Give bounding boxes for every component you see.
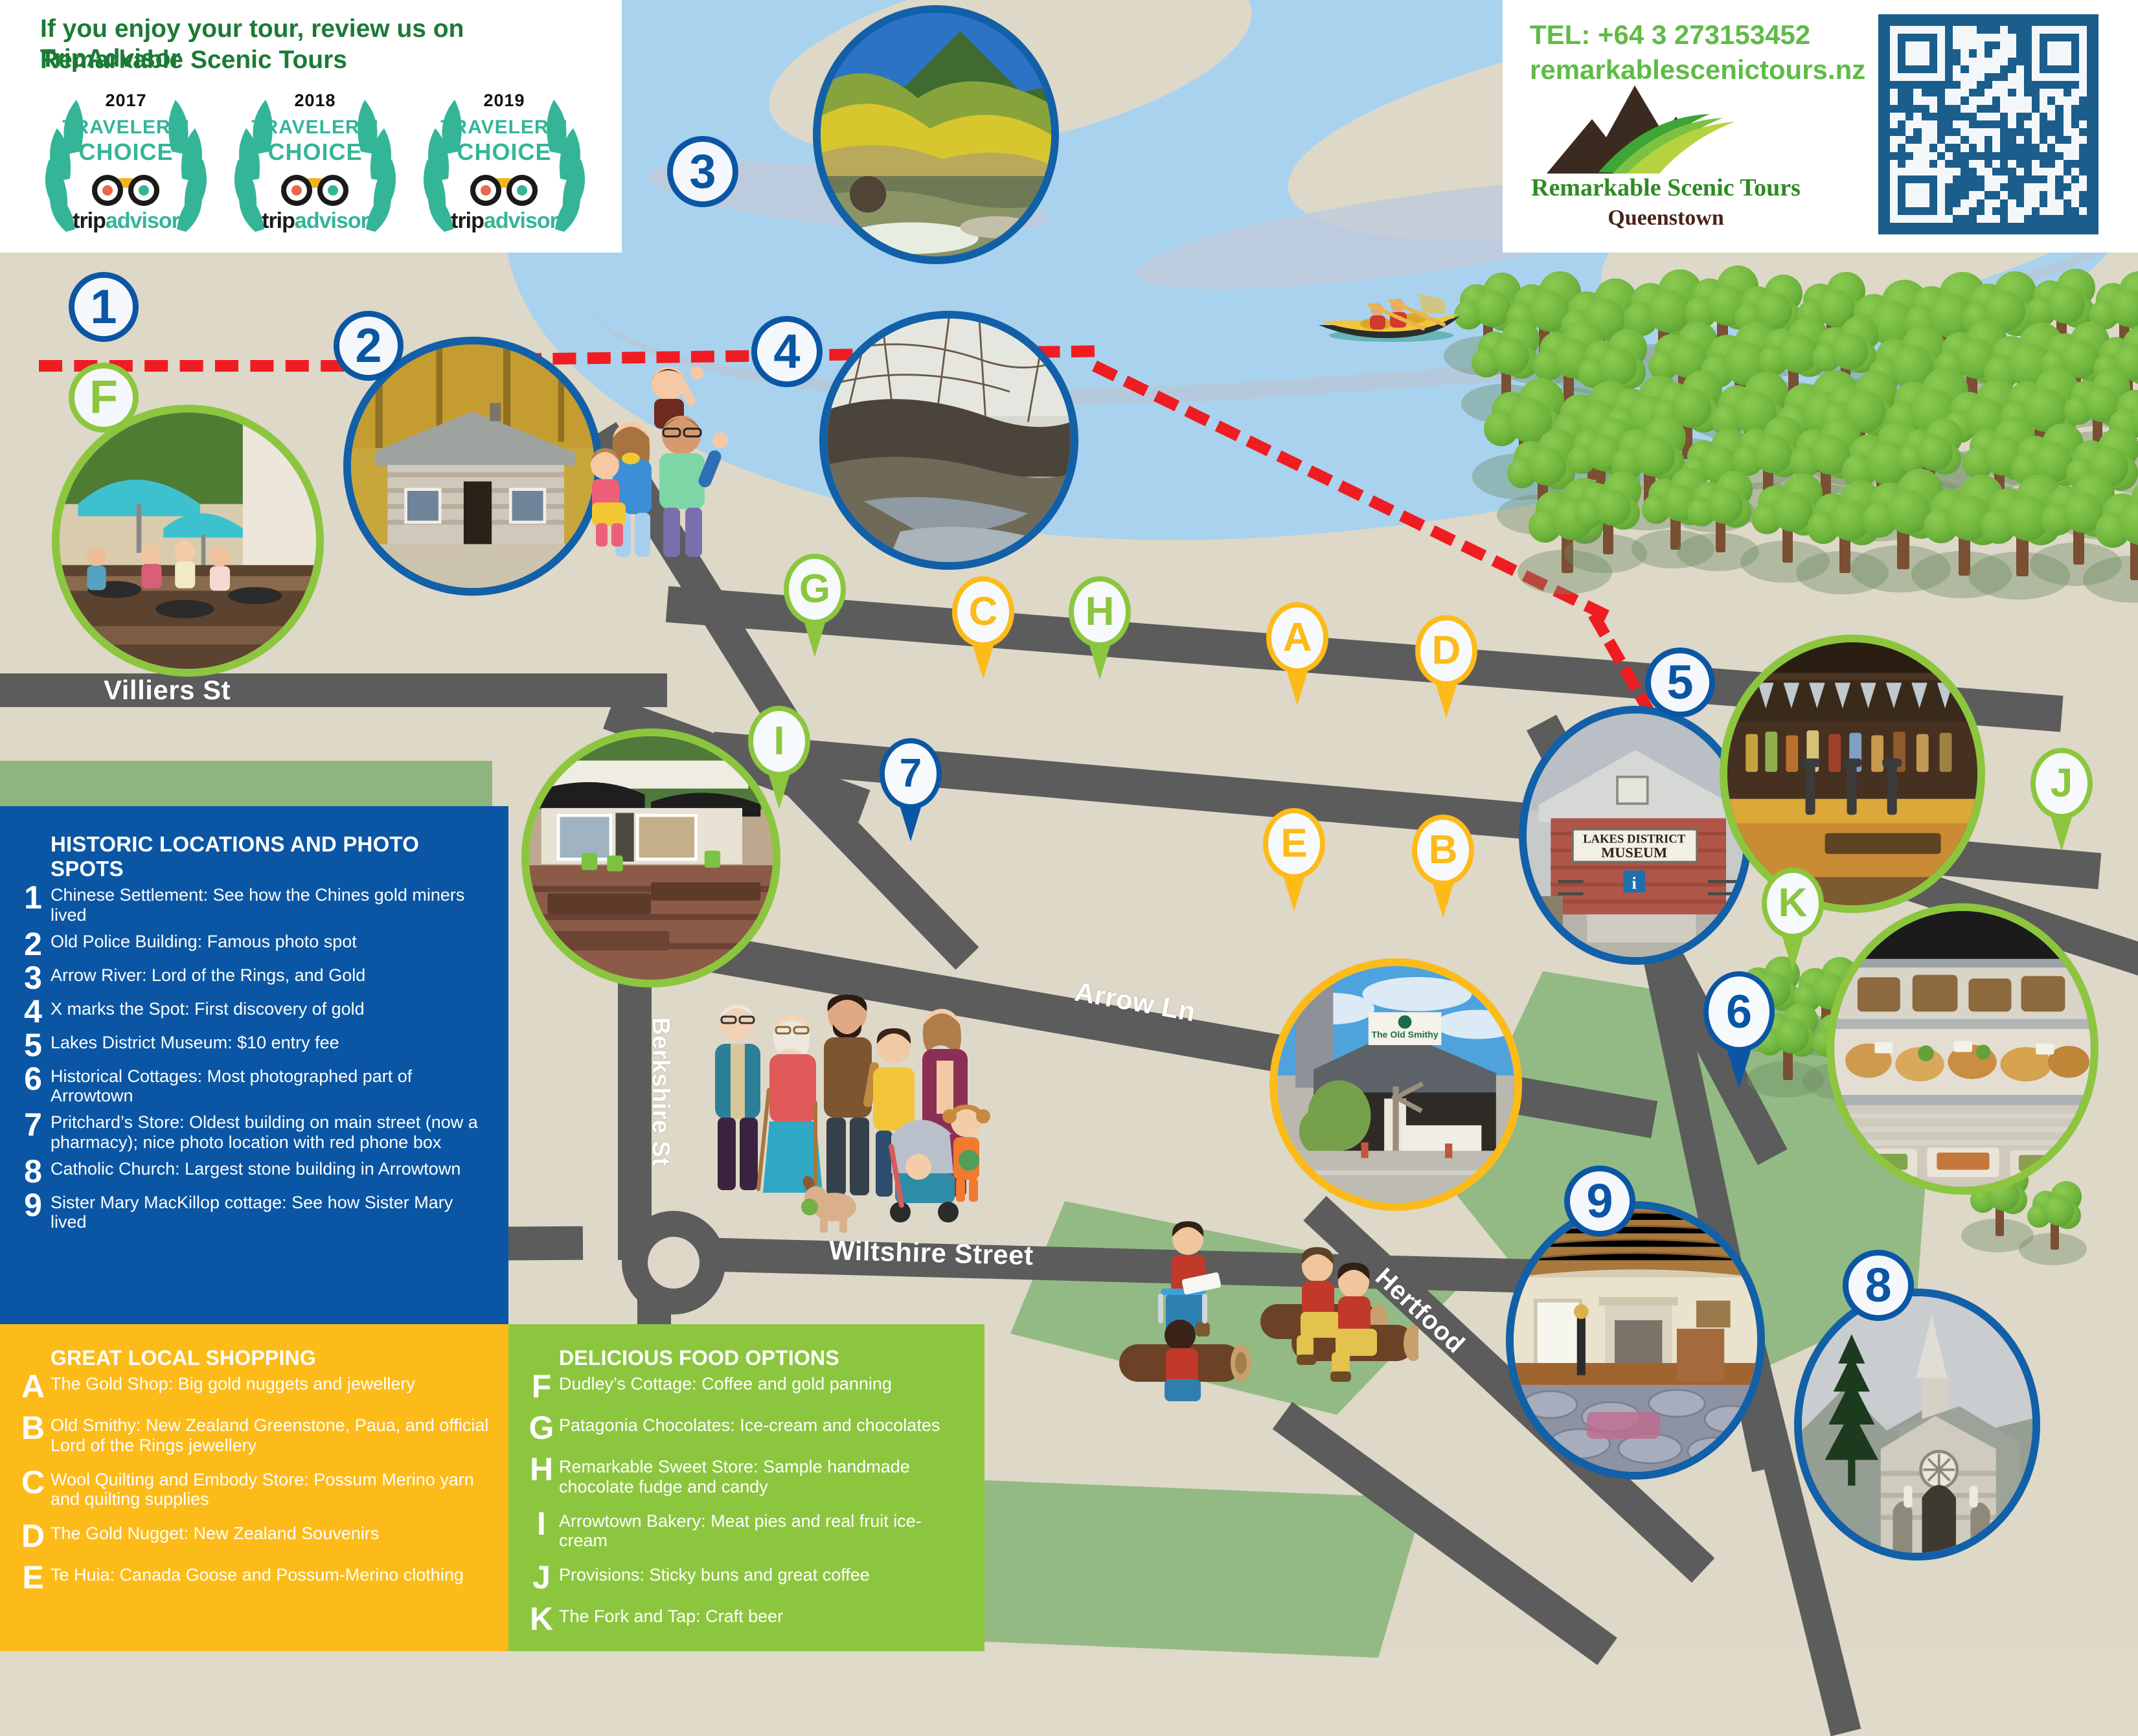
map-badge-9[interactable]: 9 [1564,1166,1635,1237]
map-badge-8-label: 8 [1865,1261,1891,1309]
tripadvisor-badge-2018-line2: CHOICE [229,139,401,166]
tripadvisor-badge-2019: 2019 TRAVELERS' CHOICE tripadvisor [418,76,590,238]
legend-item-description: Catholic Church: Largest stone building … [51,1156,461,1179]
legend-item-description: Sister Mary MacKillop cottage: See how S… [51,1190,489,1233]
kayak-illustration [1315,285,1464,343]
map-badge-5-label: 5 [1666,659,1693,706]
legend-item-key: 8 [16,1156,51,1186]
family-group-illustration [699,984,1030,1256]
map-badge-1-label: 1 [90,283,117,331]
map-pin-D-label: D [1415,615,1477,686]
tree-icon [1686,466,1754,559]
map-pin-C[interactable]: C [952,576,1014,670]
legend-item-key: D [16,1521,51,1551]
map-badge-2-label: 2 [355,322,381,370]
tripadvisor-badge-2017-year: 2017 [40,91,212,111]
tree-icon [2093,473,2138,588]
map-pin-A-label: A [1266,602,1328,673]
legend-item-key: 9 [16,1190,51,1220]
legend-item[interactable]: 8Catholic Church: Largest stone building… [16,1156,489,1186]
legend-item[interactable]: ETe Huia: Canada Goose and Possum-Merino… [16,1562,489,1592]
map-pin-K[interactable]: K [1762,868,1824,962]
tripadvisor-badge-2019-wordmark: tripadvisor [418,209,590,234]
legend-item-description: Dudley’s Cottage: Coffee and gold pannin… [559,1371,892,1394]
legend-item-key: E [16,1562,51,1592]
legend-item-key: H [524,1454,559,1484]
legend-title: GREAT LOCAL SHOPPING [51,1346,489,1370]
wordmark-advisor: advisor [295,209,369,233]
legend-item-description: Remarkable Sweet Store: Sample handmade … [559,1454,968,1497]
legend-item-key: 3 [16,963,51,993]
tripadvisor-badge-2017: 2017 TRAVELERS' CHOICE tripadvisor [40,76,212,238]
photo-old-smithy: The Old Smithy [1269,958,1522,1211]
map-badge-3-label: 3 [689,148,716,196]
legend-item[interactable]: FDudley’s Cottage: Coffee and gold panni… [524,1371,968,1401]
legend-item-description: The Fork and Tap: Craft beer [559,1604,783,1627]
map-pin-E-label: E [1263,808,1325,879]
legend-great-local-shopping: GREAT LOCAL SHOPPINGAThe Gold Shop: Big … [0,1324,508,1651]
legend-item[interactable]: JProvisions: Sticky buns and great coffe… [524,1562,968,1592]
svg-text:i: i [1632,874,1636,893]
legend-item[interactable]: 6Historical Cottages: Most photographed … [16,1064,489,1107]
tripadvisor-badge-2018: 2018 TRAVELERS' CHOICE tripadvisor [229,76,401,238]
legend-item-description: Patagonia Chocolates: Ice-cream and choc… [559,1413,940,1436]
legend-item[interactable]: 5Lakes District Museum: $10 entry fee [16,1030,489,1060]
legend-item-description: Arrow River: Lord of the Rings, and Gold [51,963,365,986]
photo-lakes-district-museum: LAKES DISTRICT MUSEUM i [1519,706,1752,965]
legend-item[interactable]: GPatagonia Chocolates: Ice-cream and cho… [524,1413,968,1443]
map-pin-G-label: G [784,554,846,625]
legend-item-key: K [524,1604,559,1634]
legend-item[interactable]: 9Sister Mary MacKillop cottage: See how … [16,1190,489,1233]
tripadvisor-badge-2018-year: 2018 [229,91,401,111]
legend-item-key: 7 [16,1110,51,1140]
map-pin-A[interactable]: A [1266,602,1328,696]
map-badge-2[interactable]: 2 [334,311,404,381]
svg-text:MUSEUM: MUSEUM [1601,844,1667,861]
tripadvisor-badge-2019-year: 2019 [418,91,590,111]
legend-item-description: The Gold Shop: Big gold nuggets and jewe… [51,1371,415,1394]
photo-sister-mary-cottage [1506,1201,1765,1480]
company-logo-city: Queenstown [1530,206,1802,231]
map-pin-B-label: B [1412,815,1474,886]
park-people-illustration [1069,1185,1418,1444]
map-pin-6-label: 6 [1703,971,1775,1052]
legend-item[interactable]: 4X marks the Spot: First discovery of go… [16,997,489,1026]
legend-item[interactable]: IArrowtown Bakery: Meat pies and real fr… [524,1509,968,1551]
tripadvisor-badge-2018-wordmark: tripadvisor [229,209,401,234]
map-pin-H-label: H [1069,576,1131,648]
legend-delicious-food-options: DELICIOUS FOOD OPTIONSFDudley’s Cottage:… [508,1324,984,1651]
photo-fork-and-tap [1720,635,1985,913]
legend-item-description: X marks the Spot: First discovery of gol… [51,997,365,1019]
map-badge-3[interactable]: 3 [667,136,738,207]
map-pin-K-label: K [1762,868,1824,939]
legend-item-description: Wool Quilting and Embody Store: Possum M… [51,1467,489,1510]
legend-item[interactable]: 3Arrow River: Lord of the Rings, and Gol… [16,963,489,993]
wordmark-advisor: advisor [484,209,558,233]
map-pin-H[interactable]: H [1069,576,1131,670]
map-pin-7-label: 7 [880,738,942,809]
legend-item-description: The Gold Nugget: New Zealand Souvenirs [51,1521,379,1544]
family-illustration-top [583,350,751,557]
legend-item-description: Provisions: Sticky buns and great coffee [559,1562,870,1585]
tripadvisor-badge-2018-line1: TRAVELERS' [229,117,401,139]
map-pin-E[interactable]: E [1263,808,1325,902]
legend-item-description: Arrowtown Bakery: Meat pies and real fru… [559,1509,968,1551]
legend-item-key: J [524,1562,559,1592]
legend-item[interactable]: BOld Smithy: New Zealand Greenstone, Pau… [16,1413,489,1456]
map-badge-5[interactable]: 5 [1645,648,1715,717]
tripadvisor-promo-panel: If you enjoy your tour, review us on Tri… [0,0,622,253]
legend-item-key: G [524,1413,559,1443]
legend-title: DELICIOUS FOOD OPTIONS [559,1346,968,1370]
legend-title: HISTORIC LOCATIONS AND PHOTO SPOTS [51,832,489,881]
map-badge-1[interactable]: 1 [69,272,139,342]
legend-item-description: Te Huia: Canada Goose and Possum-Merino … [51,1562,464,1585]
legend-item-key: 4 [16,997,51,1026]
tree-icon [2026,1177,2083,1255]
park-strip-left [0,761,492,806]
map-badge-9-label: 9 [1586,1177,1613,1225]
legend-item[interactable]: 1Chinese Settlement: See how the Chines … [16,883,489,925]
map-pin-G[interactable]: G [784,554,846,648]
photo-provisions [1826,903,2098,1195]
legend-item[interactable]: 7Pritchard’s Store: Oldest building on m… [16,1110,489,1153]
legend-item-key: I [524,1509,559,1539]
tripadvisor-badge-2017-line2: CHOICE [40,139,212,166]
wordmark-trip: trip [262,209,295,233]
legend-item-key: 2 [16,929,51,959]
svg-text:The Old Smithy: The Old Smithy [1372,1030,1439,1040]
tripadvisor-badge-2017-wordmark: tripadvisor [40,209,212,234]
wordmark-advisor: advisor [106,209,179,233]
legend-item-key: 6 [16,1064,51,1094]
photo-arrowtown-bakery [521,728,780,987]
map-badge-F-label: F [89,374,118,421]
roundabout-island [648,1237,699,1289]
wordmark-trip: trip [451,209,484,233]
promo-line2: Remarkable Scenic Tours [40,45,597,75]
legend-item-description: Pritchard’s Store: Oldest building on ma… [51,1110,489,1153]
map-pin-J-label: J [2030,748,2093,819]
street-label-villiers: Villiers St [104,673,231,707]
tripadvisor-badge-2017-line1: TRAVELERS' [40,117,212,139]
contact-tel: TEL: +64 3 273153452 [1530,18,1810,52]
photo-x-marks-the-spot [819,311,1078,570]
legend-historic-locations: HISTORIC LOCATIONS AND PHOTO SPOTS1Chine… [0,806,508,1324]
legend-item-description: Old Police Building: Famous photo spot [51,929,357,952]
qr-code[interactable] [1878,14,2098,234]
legend-item[interactable]: 2Old Police Building: Famous photo spot [16,929,489,959]
legend-item-description: Lakes District Museum: $10 entry fee [51,1030,339,1053]
legend-item[interactable]: DThe Gold Nugget: New Zealand Souvenirs [16,1521,489,1551]
tripadvisor-badge-2019-line1: TRAVELERS' [418,117,590,139]
map-pin-C-label: C [952,576,1014,648]
map-pin-D[interactable]: D [1415,615,1477,709]
tourist-map: Villiers St Berkshire St Arrow Ln Wiltsh… [0,0,2138,1651]
legend-item[interactable]: AThe Gold Shop: Big gold nuggets and jew… [16,1371,489,1401]
contact-panel: TEL: +64 3 273153452 remarkablescenictou… [1503,0,2138,253]
legend-item-key: C [16,1467,51,1497]
legend-item-key: 5 [16,1030,51,1060]
map-pin-B[interactable]: B [1412,815,1474,908]
legend-item[interactable]: CWool Quilting and Embody Store: Possum … [16,1467,489,1510]
street-label-berkshire: Berkshire St [644,1017,677,1166]
legend-item-key: F [524,1371,559,1401]
photo-arrow-river [813,5,1059,264]
map-badge-4-label: 4 [773,328,800,376]
map-badge-F[interactable]: F [69,363,139,433]
legend-item-key: 1 [16,883,51,912]
company-logo-mountain-icon [1536,76,1757,186]
legend-item[interactable]: KThe Fork and Tap: Craft beer [524,1604,968,1634]
legend-item-description: Old Smithy: New Zealand Greenstone, Paua… [51,1413,489,1456]
road-villiers [0,673,667,707]
map-pin-J[interactable]: J [2030,748,2093,842]
legend-item-key: A [16,1371,51,1401]
map-badge-8[interactable]: 8 [1843,1250,1914,1321]
photo-dudleys-cottage [52,405,324,677]
legend-item-description: Chinese Settlement: See how the Chines g… [51,883,489,925]
wordmark-trip: trip [73,209,106,233]
map-pin-6[interactable]: 6 [1703,971,1775,1078]
legend-item-key: B [16,1413,51,1443]
company-logo-name: Remarkable Scenic Tours [1530,174,1802,202]
photo-catholic-church [1794,1289,2040,1561]
legend-item-description: Historical Cottages: Most photographed p… [51,1064,489,1107]
tripadvisor-badge-2019-line2: CHOICE [418,139,590,166]
map-pin-7[interactable]: 7 [880,738,942,832]
map-pin-I-label: I [748,706,810,777]
legend-item[interactable]: HRemarkable Sweet Store: Sample handmade… [524,1454,968,1497]
map-pin-I[interactable]: I [748,706,810,800]
map-badge-4[interactable]: 4 [751,316,823,387]
